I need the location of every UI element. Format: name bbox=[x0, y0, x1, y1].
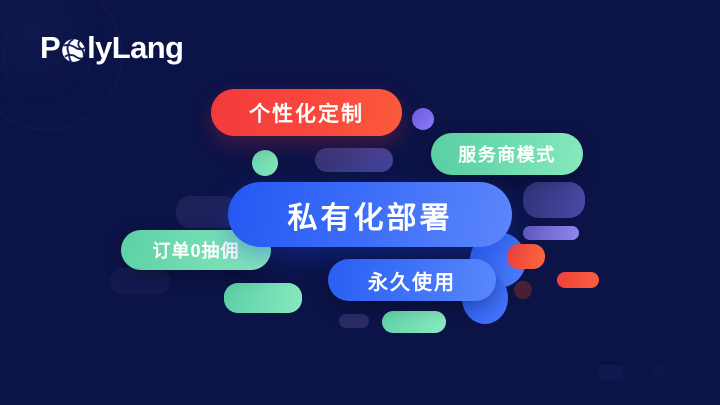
deco-faint-circle-br bbox=[652, 364, 665, 377]
deco-faint-rect-br bbox=[598, 365, 623, 380]
pill-service-provider-label: 服务商模式 bbox=[458, 141, 556, 167]
deco-circle-violet bbox=[412, 108, 434, 130]
deco-rect-purple-top bbox=[315, 148, 393, 172]
brand-logo[interactable]: P lyLang bbox=[40, 32, 183, 63]
globe-icon bbox=[61, 37, 86, 62]
globe-watermark-icon bbox=[0, 0, 122, 130]
deco-circle-green bbox=[252, 150, 278, 176]
pill-service-provider[interactable]: 服务商模式 bbox=[431, 133, 583, 175]
deco-circle-darkred bbox=[514, 281, 532, 299]
brand-name-suffix: lyLang bbox=[87, 32, 183, 63]
brand-name-prefix: P bbox=[40, 32, 60, 63]
deco-rect-violet-right bbox=[523, 226, 579, 240]
deco-rect-green-bottom-right bbox=[382, 311, 446, 333]
slide-canvas: P lyLang 个性化定制 服务商模式 订单0抽佣 私有化部署 永久使用 bbox=[0, 0, 720, 405]
deco-rect-red-2 bbox=[557, 272, 599, 288]
deco-faint-line-br bbox=[597, 362, 622, 364]
pill-customization[interactable]: 个性化定制 bbox=[211, 89, 402, 136]
pill-private-deployment[interactable]: 私有化部署 bbox=[228, 182, 512, 247]
pill-permanent-use[interactable]: 永久使用 bbox=[328, 259, 496, 301]
deco-rect-red-1 bbox=[507, 244, 545, 269]
deco-rect-purple-right bbox=[523, 182, 585, 218]
deco-rect-indigo-left-2 bbox=[110, 268, 170, 294]
deco-rect-indigo-bottom bbox=[339, 314, 369, 328]
pill-zero-commission-label: 订单0抽佣 bbox=[152, 237, 239, 263]
deco-rect-green-left-small bbox=[224, 283, 302, 313]
pill-customization-label: 个性化定制 bbox=[249, 98, 364, 128]
pill-private-deployment-label: 私有化部署 bbox=[288, 193, 453, 237]
pill-permanent-use-label: 永久使用 bbox=[368, 266, 456, 295]
